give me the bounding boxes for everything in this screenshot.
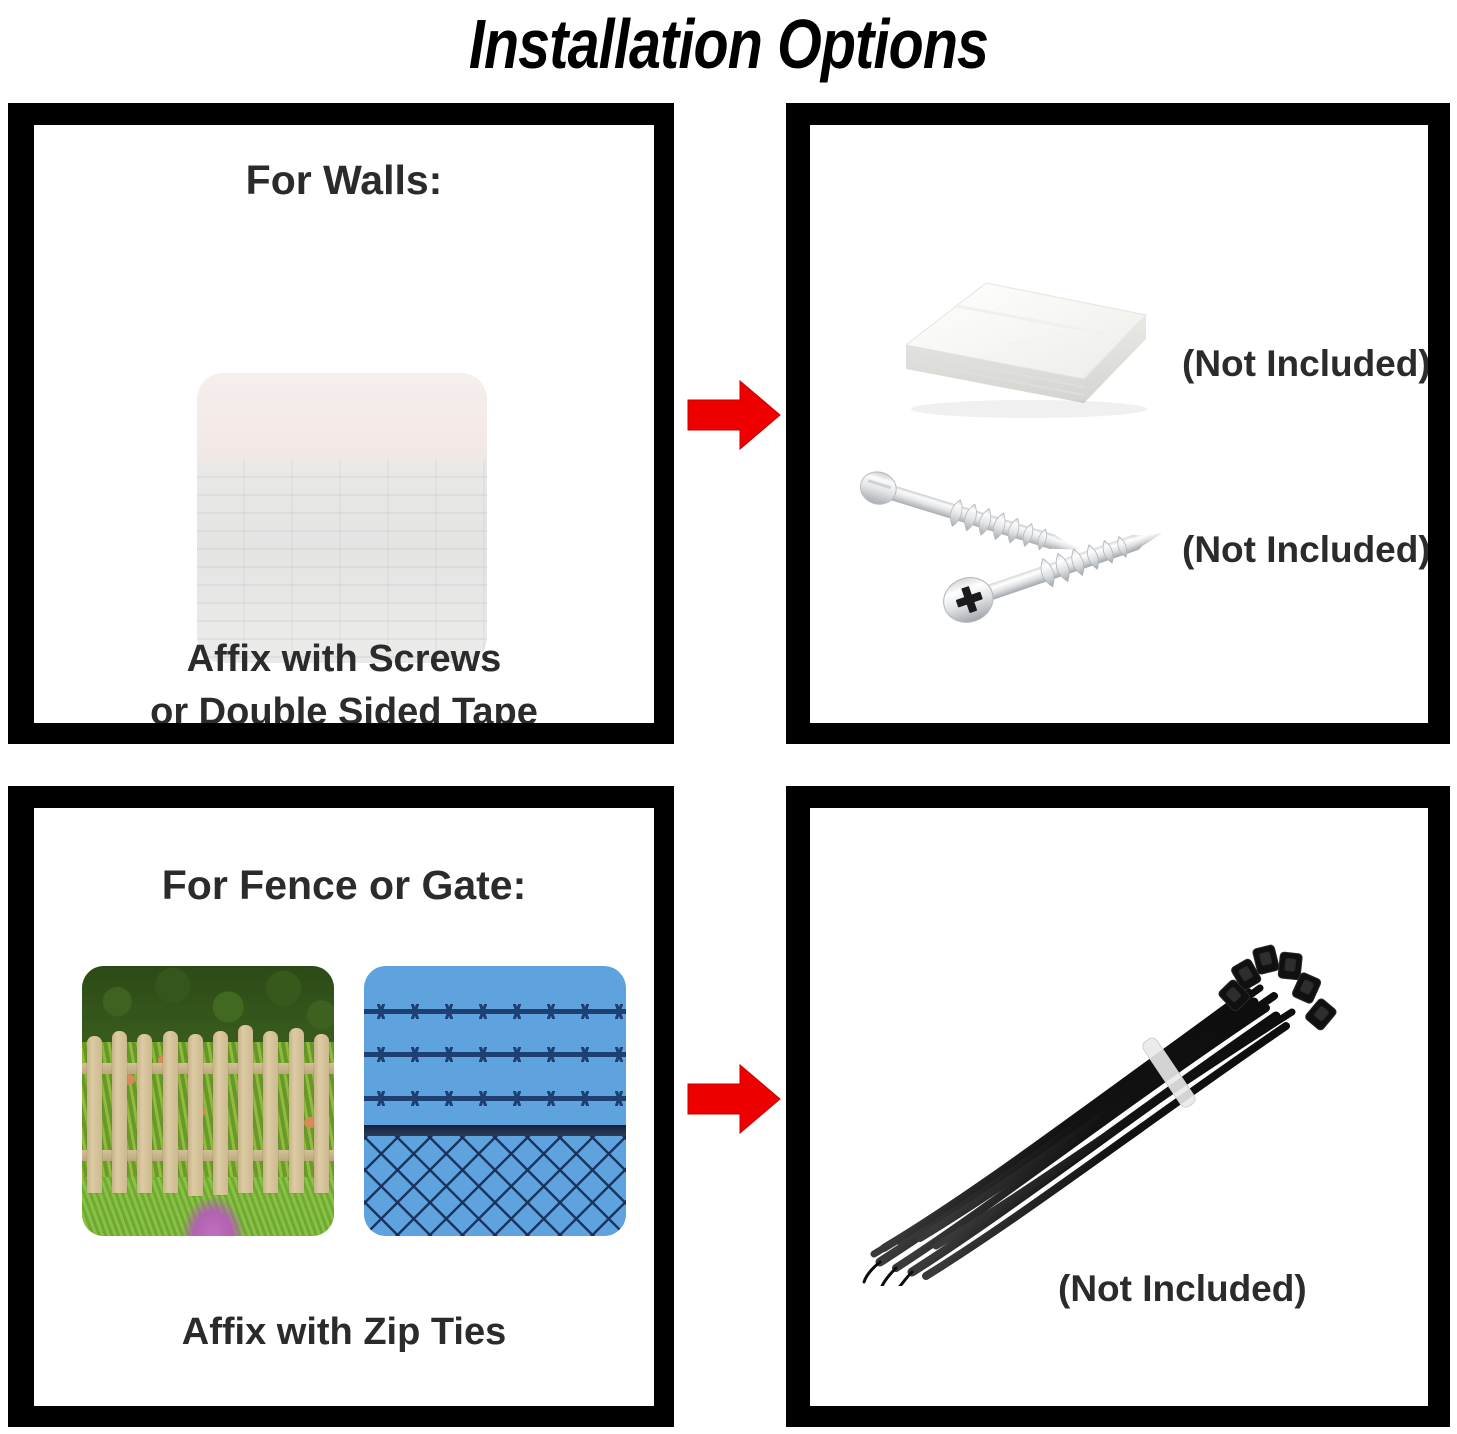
for-walls-heading: For Walls: bbox=[34, 157, 654, 204]
wood-screws-icon bbox=[848, 459, 1178, 639]
panel-for-fence-or-gate: For Fence or Gate: bbox=[8, 786, 674, 1427]
for-fence-heading: For Fence or Gate: bbox=[34, 862, 654, 909]
panel-zip-ties: (Not Included) bbox=[786, 786, 1450, 1427]
panel-for-walls-content: For Walls: Affix with Screws or Double S… bbox=[34, 125, 654, 723]
red-arrow-right-icon bbox=[686, 378, 782, 452]
panel-for-walls: For Walls: Affix with Screws or Double S… bbox=[8, 103, 674, 744]
fence-caption-line1: Affix with Zip Ties bbox=[34, 1306, 654, 1359]
panel-for-fence-content: For Fence or Gate: bbox=[34, 808, 654, 1406]
walls-caption-line2: or Double Sided Tape bbox=[34, 686, 654, 723]
walls-caption-line1: Affix with Screws bbox=[34, 633, 654, 686]
page-title: Installation Options bbox=[131, 2, 1326, 86]
panel-hardware: (Not Included) bbox=[786, 103, 1450, 744]
red-arrow-right-icon bbox=[686, 1062, 782, 1136]
black-zip-ties-bundle-icon bbox=[862, 896, 1342, 1286]
zip-ties-not-included-label: (Not Included) bbox=[1058, 1268, 1307, 1310]
screws-not-included-label: (Not Included) bbox=[1182, 529, 1428, 571]
white-brick-wall-photo bbox=[197, 373, 487, 663]
wooden-picket-fence-photo bbox=[82, 966, 334, 1236]
chain-link-barbed-wire-fence-photo bbox=[364, 966, 626, 1236]
panel-zip-ties-content: (Not Included) bbox=[810, 808, 1428, 1406]
panel-hardware-content: (Not Included) bbox=[810, 125, 1428, 723]
tape-not-included-label: (Not Included) bbox=[1182, 343, 1428, 385]
double-sided-tape-stack-icon bbox=[894, 253, 1168, 423]
